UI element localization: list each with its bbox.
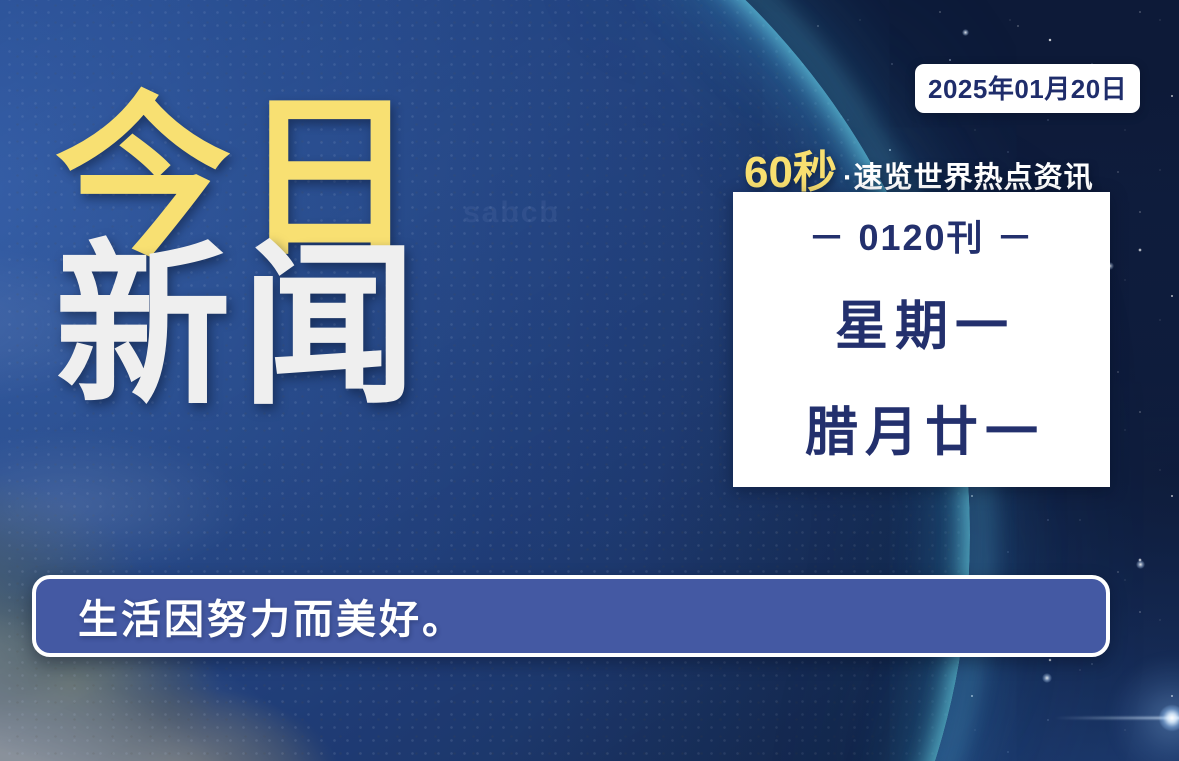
tagline: 60秒 ·速览世界热点资讯	[744, 136, 1094, 200]
date-info-card: － 0120刊 － 星期一 腊月廿一	[733, 192, 1110, 487]
news-poster: sabcb 今日 新闻 2025年01月20日 60秒 ·速览世界热点资讯 － …	[0, 0, 1179, 761]
lunar-date-label: 腊月廿一	[798, 390, 1045, 466]
issue-number: － 0120刊 －	[808, 209, 1034, 261]
masthead: 今日 新闻	[55, 98, 427, 409]
bright-star	[1136, 560, 1145, 569]
bright-star	[962, 29, 969, 36]
masthead-line-news: 新闻	[55, 246, 427, 410]
tagline-description: ·速览世界热点资讯	[843, 154, 1094, 196]
bright-star	[1042, 673, 1052, 683]
tagline-duration: 60秒	[744, 136, 837, 200]
quote-banner: 生活因努力而美好。	[32, 575, 1110, 657]
quote-text: 生活因努力而美好。	[78, 587, 465, 645]
date-badge: 2025年01月20日	[915, 64, 1140, 113]
background-watermark: sabcb	[463, 196, 560, 230]
lens-flare-core	[1159, 705, 1179, 731]
weekday-label: 星期一	[828, 284, 1015, 360]
